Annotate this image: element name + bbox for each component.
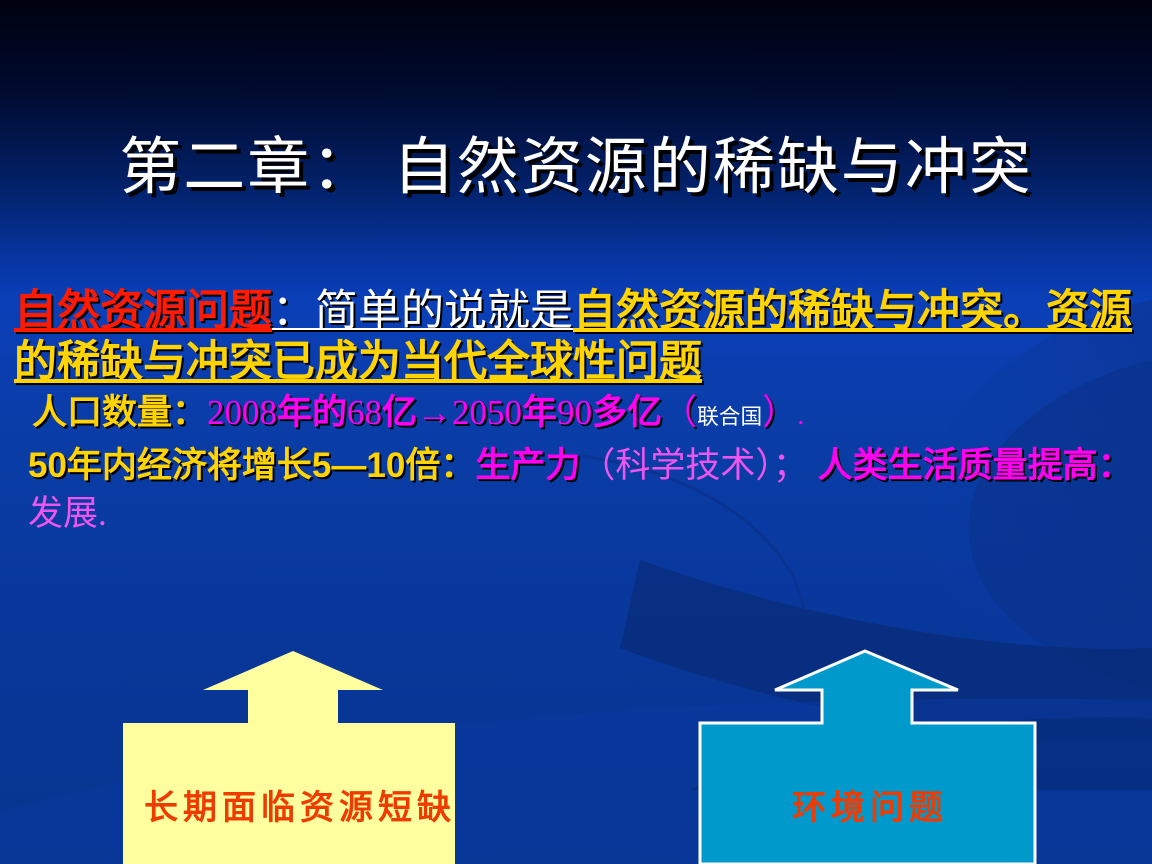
economy-note-science-technology: （科学技术）； [580, 446, 808, 485]
population-unit-arrow: 亿→ [382, 393, 452, 432]
up-arrow-box-shape [680, 645, 1060, 864]
population-year-2050: 2050 [452, 393, 522, 432]
term-natural-resource-problem: 自然资源问题 [14, 287, 272, 335]
economy-line: 50年内经济将增长5—10倍：生产力（科学技术）； 人类生活质量提高：发展. [14, 442, 1144, 538]
population-value-68: 68 [347, 393, 382, 432]
callout-label-right: 环境问题 [680, 780, 1060, 829]
callout-environment-problem[interactable]: 环境问题 [680, 645, 1060, 864]
up-arrow-box-shape [110, 645, 490, 864]
population-label: 人口数量： [32, 393, 207, 432]
population-year-2008: 2008 [207, 393, 277, 432]
paren-close: ） [762, 393, 797, 432]
definition-line: 自然资源问题：简单的说就是自然资源的稀缺与冲突。资源的稀缺与冲突已成为当代全球性… [14, 286, 1144, 388]
economy-note-development: 发展. [28, 494, 107, 533]
economy-growth-label: 50年内经济将增长5—10倍： [28, 446, 475, 485]
population-unit-plus: 多亿 [592, 393, 662, 432]
population-of-label: 年的 [277, 393, 347, 432]
slide-canvas: 第二章： 自然资源的稀缺与冲突 自然资源问题：简单的说就是自然资源的稀缺与冲突。… [0, 0, 1152, 864]
callout-label-left: 长期面临资源短缺 [110, 780, 490, 829]
economy-term-productivity: 生产力 [475, 446, 580, 485]
paren-open: （ [662, 393, 697, 432]
population-year-label: 年 [522, 393, 557, 432]
body-text-block: 自然资源问题：简单的说就是自然资源的稀缺与冲突。资源的稀缺与冲突已成为当代全球性… [14, 286, 1144, 538]
definition-connector: ：简单的说就是 [272, 288, 573, 335]
period-mark: . [797, 400, 804, 431]
population-value-90: 90 [557, 393, 592, 432]
population-source: 联合国 [697, 405, 762, 429]
economy-term-quality-of-life: 人类生活质量提高： [808, 446, 1133, 485]
population-line: 人口数量：2008年的68亿→2050年90多亿（联合国）. [14, 388, 1144, 442]
callout-long-term-resource-shortage[interactable]: 长期面临资源短缺 [110, 645, 490, 864]
page-title: 第二章： 自然资源的稀缺与冲突 [0, 129, 1152, 207]
